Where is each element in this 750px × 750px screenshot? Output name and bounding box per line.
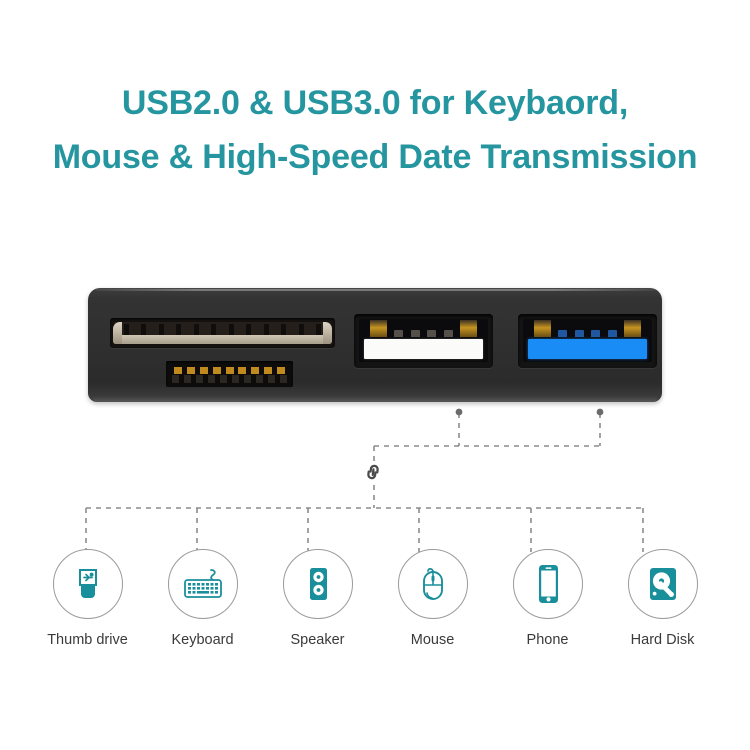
page-title: USB2.0 & USB3.0 for Keybaord, Mouse & Hi… (0, 76, 750, 184)
microsd-card-slot (166, 361, 293, 387)
device-item-hard-disk[interactable]: Hard Disk (605, 549, 720, 669)
sd-card-slot (110, 318, 335, 348)
usb-3-0-contact-left (534, 320, 551, 337)
mouse-icon (413, 563, 453, 605)
icon-circle-hard-disk (628, 549, 698, 619)
icon-circle-phone (513, 549, 583, 619)
thumb-drive-icon (68, 564, 108, 604)
connector-dot-usb30 (597, 409, 604, 416)
icon-circle-keyboard (168, 549, 238, 619)
usb-2-0-port (354, 314, 493, 368)
icon-circle-mouse (398, 549, 468, 619)
icon-circle-thumb-drive (53, 549, 123, 619)
chain-link-icon (360, 459, 386, 485)
phone-icon (532, 562, 564, 606)
sd-card-slot-rim-right (323, 322, 332, 344)
hard-disk-icon (643, 564, 683, 604)
usb-3-0-tongue (528, 339, 647, 359)
device-label-hard-disk: Hard Disk (631, 632, 695, 648)
device-item-mouse[interactable]: Mouse (375, 549, 490, 669)
infographic-canvas: USB2.0 & USB3.0 for Keybaord, Mouse & Hi… (0, 0, 750, 750)
usb-3-0-contact-right (624, 320, 641, 337)
sd-card-slot-rim (113, 335, 332, 344)
usb-2-0-contact-right (460, 320, 477, 337)
usb-hub-device (88, 288, 662, 402)
microsd-slot-teeth (172, 375, 287, 383)
microsd-slot-contacts (174, 367, 285, 374)
usb-3-0-pins (558, 330, 617, 337)
device-item-thumb-drive[interactable]: Thumb drive (30, 549, 145, 669)
device-label-phone: Phone (527, 632, 569, 648)
usb-2-0-contact-left (370, 320, 387, 337)
sd-card-slot-rim-left (113, 322, 122, 344)
speaker-icon (298, 564, 338, 604)
device-item-keyboard[interactable]: Keyboard (145, 549, 260, 669)
usb-3-0-port (518, 314, 657, 368)
icon-circle-speaker (283, 549, 353, 619)
device-label-keyboard: Keyboard (171, 632, 233, 648)
headline-line-1: USB2.0 & USB3.0 for Keybaord, (0, 76, 750, 130)
compatible-devices-row: Thumb drive (30, 549, 720, 669)
device-item-phone[interactable]: Phone (490, 549, 605, 669)
device-label-thumb-drive: Thumb drive (47, 632, 128, 648)
device-label-mouse: Mouse (411, 632, 455, 648)
keyboard-icon (180, 564, 226, 604)
connector-dot-usb20 (456, 409, 463, 416)
device-label-speaker: Speaker (290, 632, 344, 648)
usb-2-0-tongue (364, 339, 483, 359)
headline-line-2: Mouse & High-Speed Date Transmission (0, 130, 750, 184)
usb-2-0-pins (394, 330, 453, 337)
device-item-speaker[interactable]: Speaker (260, 549, 375, 669)
